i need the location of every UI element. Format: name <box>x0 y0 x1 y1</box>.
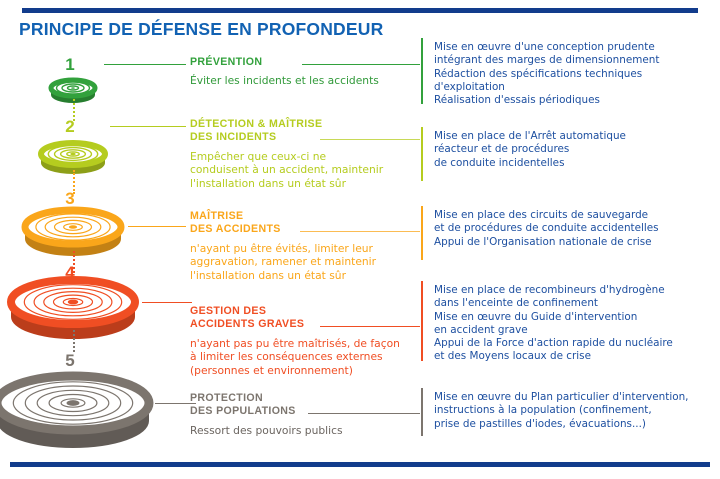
level-1-heading: PRÉVENTION <box>190 56 379 69</box>
level-4-description-line: (personnes et environnement) <box>190 364 400 378</box>
level-3-heading: MAÎTRISE <box>190 210 376 223</box>
level-3-description-line: n'ayant pu être évités, limiter leur <box>190 242 376 256</box>
measure-line: Mise en œuvre d'une conception prudente <box>434 41 659 54</box>
level-2-rule-line <box>320 139 420 140</box>
measure-line: Mise en œuvre du Plan particulier d'inte… <box>434 391 688 404</box>
level-3-accent-bar <box>421 206 423 260</box>
measure-line: Appui de l'Organisation nationale de cri… <box>434 236 659 249</box>
level-5-number: 5 <box>65 352 74 369</box>
measure-line: Mise en place de l'Arrêt automatique <box>434 130 626 143</box>
measure-line: Mise en place de recombineurs d'hydrogèn… <box>434 284 673 297</box>
measure-line: instructions à la population (confinemen… <box>434 404 688 417</box>
level-3-measures: Mise en place des circuits de sauvegarde… <box>434 209 659 249</box>
measure-line: et des Moyens locaux de crise <box>434 350 673 363</box>
level-5-disc <box>0 348 155 458</box>
level-4-label-block: GESTION DESACCIDENTS GRAVESn'ayant pas p… <box>190 305 400 378</box>
level-4-stub-line <box>142 302 192 303</box>
measure-line: de conduite incidentelles <box>434 157 626 170</box>
measure-line: Appui de la Force d'action rapide du nuc… <box>434 337 673 350</box>
level-5-heading: PROTECTION <box>190 392 343 405</box>
level-2-accent-bar <box>421 127 423 181</box>
level-2-description-line: l'installation dans un état sûr <box>190 177 383 191</box>
level-4-number: 4 <box>65 264 74 281</box>
level-3-description-line: l'installation dans un état sûr <box>190 269 376 283</box>
level-4-heading: GESTION DES <box>190 305 400 318</box>
measure-line: d'exploitation <box>434 81 659 94</box>
level-2-heading: DÉTECTION & MAÎTRISE <box>190 118 383 131</box>
level-1-label-block: PRÉVENTIONÉviter les incidents et les ac… <box>190 56 379 88</box>
level-2-description-line: conduisent à un accident, maintenir <box>190 163 383 177</box>
level-5-measures: Mise en œuvre du Plan particulier d'inte… <box>434 391 688 431</box>
level-1-measures: Mise en œuvre d'une conception prudentei… <box>434 41 659 107</box>
measure-line: Mise en place des circuits de sauvegarde <box>434 209 659 222</box>
measure-line: prise de pastilles d'iodes, évacuations.… <box>434 418 688 431</box>
level-1-accent-bar <box>421 38 423 104</box>
measure-line: et de procédures de conduite accidentell… <box>434 222 659 235</box>
level-4-rule-line <box>320 326 420 327</box>
measure-line: Mise en œuvre du Guide d'intervention <box>434 311 673 324</box>
level-2-number: 2 <box>65 118 74 135</box>
level-2-description-line: Empêcher que ceux-ci ne <box>190 150 383 164</box>
level-3-stub-line <box>128 226 186 227</box>
defense-in-depth-diagram: 1PRÉVENTIONÉviter les incidents et les a… <box>0 0 720 479</box>
level-2-measures: Mise en place de l'Arrêt automatiqueréac… <box>434 130 626 170</box>
level-1-rule-line <box>302 64 420 65</box>
level-1-stub-line <box>104 64 186 65</box>
level-2-label-block: DÉTECTION & MAÎTRISEDES INCIDENTSEmpêche… <box>190 118 383 191</box>
measure-line: réacteur et de procédures <box>434 143 626 156</box>
level-4-measures: Mise en place de recombineurs d'hydrogèn… <box>434 284 673 364</box>
measure-line: Rédaction des spécifications techniques <box>434 68 659 81</box>
level-4-description-line: n'ayant pas pu être maîtrisés, de façon <box>190 337 400 351</box>
level-5-description-line: Ressort des pouvoirs publics <box>190 424 343 438</box>
level-3-label-block: MAÎTRISEDES ACCIDENTSn'ayant pu être évi… <box>190 210 376 283</box>
level-4-accent-bar <box>421 281 423 361</box>
level-5-accent-bar <box>421 388 423 436</box>
level-4-description-line: à limiter les conséquences externes <box>190 350 400 364</box>
measure-line: Réalisation d'essais périodiques <box>434 94 659 107</box>
level-5-rule-line <box>308 413 420 414</box>
measure-line: intégrant des marges de dimensionnement <box>434 54 659 67</box>
measure-line: en accident grave <box>434 324 673 337</box>
level-3-number: 3 <box>65 190 74 207</box>
level-5-label-block: PROTECTIONDES POPULATIONSRessort des pou… <box>190 392 343 437</box>
level-3-description-line: aggravation, ramener et maintenir <box>190 255 376 269</box>
level-1-number: 1 <box>65 56 74 73</box>
level-3-rule-line <box>300 231 420 232</box>
level-2-stub-line <box>110 126 186 127</box>
measure-line: dans l'enceinte de confinement <box>434 297 673 310</box>
level-1-description-line: Éviter les incidents et les accidents <box>190 74 379 88</box>
